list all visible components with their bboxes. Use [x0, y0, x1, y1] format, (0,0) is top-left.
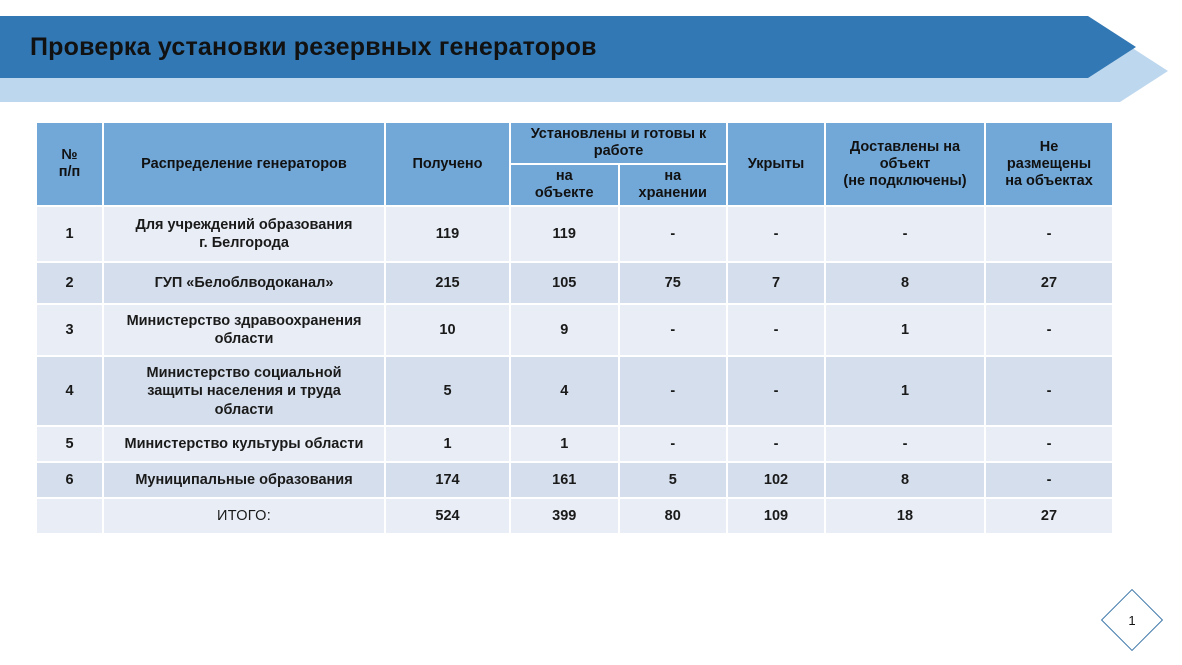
cell-not-placed: -: [985, 356, 1113, 426]
cell-not-placed: -: [985, 426, 1113, 462]
cell-in-storage: -: [619, 356, 728, 426]
cell-not-placed: 27: [985, 262, 1113, 304]
cell-name: Муниципальные образования: [103, 462, 385, 498]
cell-total-received: 524: [385, 498, 510, 534]
table-header-row-1: № п/п Распределение генераторов Получено…: [36, 122, 1113, 164]
slide-number-badge: 1: [1100, 588, 1164, 652]
cell-in-storage: 5: [619, 462, 728, 498]
cell-covered: -: [727, 206, 825, 262]
page-title: Проверка установки резервных генераторов: [30, 16, 597, 78]
cell-not-placed: -: [985, 304, 1113, 356]
column-header-not-placed-line2: размещены: [1007, 156, 1091, 172]
slide-canvas: Проверка установки резервных генераторов…: [0, 0, 1182, 665]
cell-not-placed: -: [985, 462, 1113, 498]
cell-covered: -: [727, 426, 825, 462]
cell-number: 3: [36, 304, 103, 356]
cell-name-line1: Министерство социальной: [147, 365, 342, 381]
cell-total-covered: 109: [727, 498, 825, 534]
cell-on-site: 105: [510, 262, 619, 304]
cell-name-line2: г. Белгорода: [199, 235, 289, 251]
cell-received: 5: [385, 356, 510, 426]
cell-name-line2: области: [215, 331, 274, 347]
cell-on-site: 9: [510, 304, 619, 356]
cell-number: 2: [36, 262, 103, 304]
table-row: 3 Министерство здравоохранения области 1…: [36, 304, 1113, 356]
column-header-number-line1: №: [61, 147, 77, 163]
column-header-delivered: Доставлены на объект (не подключены): [825, 122, 985, 206]
cell-on-site: 161: [510, 462, 619, 498]
cell-received: 215: [385, 262, 510, 304]
table-row: 5 Министерство культуры области 1 1 - - …: [36, 426, 1113, 462]
column-header-received: Получено: [385, 122, 510, 206]
cell-number: 5: [36, 426, 103, 462]
cell-on-site: 1: [510, 426, 619, 462]
column-header-on-site-line1: на: [556, 168, 573, 184]
column-header-installed-group: Установлены и готовы к работе: [510, 122, 727, 164]
cell-name-line2: защиты населения и труда: [147, 383, 341, 399]
column-header-in-storage: на хранении: [619, 164, 728, 206]
table-total-row: ИТОГО: 524 399 80 109 18 27: [36, 498, 1113, 534]
table-row: 2 ГУП «Белоблводоканал» 215 105 75 7 8 2…: [36, 262, 1113, 304]
column-header-not-placed-line1: Не: [1040, 139, 1059, 155]
cell-in-storage: -: [619, 304, 728, 356]
table-row: 4 Министерство социальной защиты населен…: [36, 356, 1113, 426]
cell-on-site: 4: [510, 356, 619, 426]
cell-name: Для учреждений образования г. Белгорода: [103, 206, 385, 262]
title-banner: Проверка установки резервных генераторов: [0, 16, 1168, 102]
cell-total-on-site: 399: [510, 498, 619, 534]
cell-name: Министерство здравоохранения области: [103, 304, 385, 356]
cell-covered: -: [727, 304, 825, 356]
cell-number: 4: [36, 356, 103, 426]
cell-covered: 7: [727, 262, 825, 304]
slide-number-text: 1: [1100, 588, 1164, 652]
cell-not-placed: -: [985, 206, 1113, 262]
cell-total-delivered: 18: [825, 498, 985, 534]
cell-total-not-placed: 27: [985, 498, 1113, 534]
column-header-not-placed-line3: на объектах: [1005, 173, 1093, 189]
cell-delivered: 1: [825, 356, 985, 426]
cell-number: 1: [36, 206, 103, 262]
cell-number: 6: [36, 462, 103, 498]
table-header: № п/п Распределение генераторов Получено…: [36, 122, 1113, 206]
column-header-in-storage-line2: хранении: [639, 185, 707, 201]
column-header-on-site-line2: объекте: [535, 185, 594, 201]
cell-covered: -: [727, 356, 825, 426]
column-header-covered: Укрыты: [727, 122, 825, 206]
cell-received: 174: [385, 462, 510, 498]
cell-total-label: ИТОГО:: [103, 498, 385, 534]
cell-delivered: 8: [825, 462, 985, 498]
cell-on-site: 119: [510, 206, 619, 262]
column-header-not-placed: Не размещены на объектах: [985, 122, 1113, 206]
cell-delivered: -: [825, 426, 985, 462]
cell-name: ГУП «Белоблводоканал»: [103, 262, 385, 304]
cell-in-storage: -: [619, 426, 728, 462]
table-row: 1 Для учреждений образования г. Белгород…: [36, 206, 1113, 262]
cell-name: Министерство социальной защиты населения…: [103, 356, 385, 426]
column-header-delivered-line1: Доставлены на: [850, 139, 960, 155]
cell-total-in-storage: 80: [619, 498, 728, 534]
cell-received: 1: [385, 426, 510, 462]
generators-table-container: № п/п Распределение генераторов Получено…: [36, 122, 1113, 534]
table-body: 1 Для учреждений образования г. Белгород…: [36, 206, 1113, 534]
table-row: 6 Муниципальные образования 174 161 5 10…: [36, 462, 1113, 498]
cell-name-line1: Министерство здравоохранения: [127, 313, 362, 329]
cell-received: 10: [385, 304, 510, 356]
column-header-on-site: на объекте: [510, 164, 619, 206]
cell-delivered: 8: [825, 262, 985, 304]
column-header-delivered-line3: (не подключены): [843, 173, 966, 189]
cell-name-line1: Для учреждений образования: [136, 217, 353, 233]
column-header-delivered-line2: объект: [880, 156, 931, 172]
column-header-number-line2: п/п: [59, 164, 81, 180]
cell-received: 119: [385, 206, 510, 262]
column-header-in-storage-line1: на: [664, 168, 681, 184]
cell-covered: 102: [727, 462, 825, 498]
cell-name: Министерство культуры области: [103, 426, 385, 462]
generators-table: № п/п Распределение генераторов Получено…: [36, 122, 1113, 534]
cell-total-blank: [36, 498, 103, 534]
cell-delivered: -: [825, 206, 985, 262]
cell-in-storage: -: [619, 206, 728, 262]
cell-delivered: 1: [825, 304, 985, 356]
cell-in-storage: 75: [619, 262, 728, 304]
column-header-number: № п/п: [36, 122, 103, 206]
cell-name-line3: области: [215, 402, 274, 418]
column-header-distribution: Распределение генераторов: [103, 122, 385, 206]
